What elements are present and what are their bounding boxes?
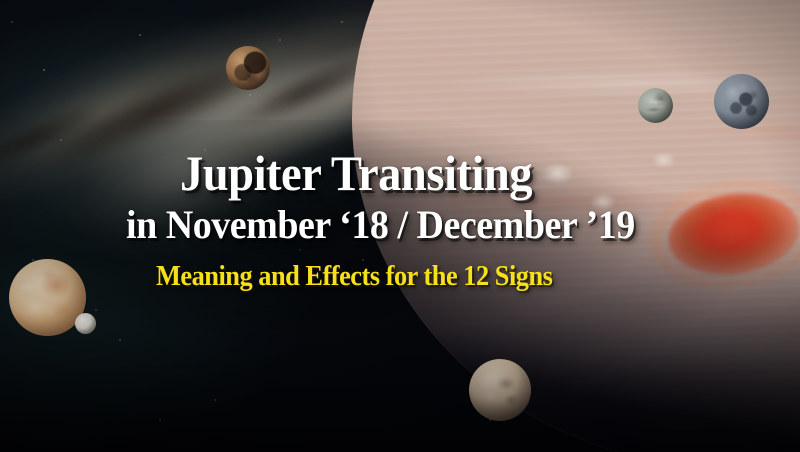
moon-ganymede-shadow bbox=[638, 88, 673, 123]
jupiter-planet bbox=[352, 0, 800, 452]
moon-io bbox=[226, 46, 270, 90]
jupiter-terminator-shadow bbox=[352, 0, 800, 452]
moon-small bbox=[75, 313, 96, 334]
moon-foreground-shadow bbox=[469, 359, 531, 421]
moon-callisto bbox=[714, 74, 769, 129]
jupiter-transiting-banner: Jupiter Transiting in November ‘18 / Dec… bbox=[0, 0, 800, 452]
moon-ganymede bbox=[638, 88, 673, 123]
moon-small-shadow bbox=[75, 313, 96, 334]
moon-callisto-shadow bbox=[714, 74, 769, 129]
moon-io-shadow bbox=[226, 46, 270, 90]
moon-foreground bbox=[469, 359, 531, 421]
